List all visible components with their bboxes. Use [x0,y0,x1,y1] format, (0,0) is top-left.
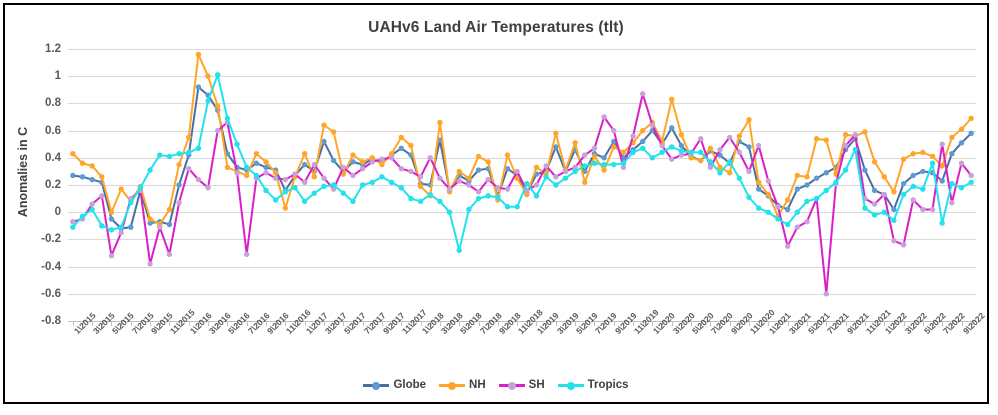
data-point [959,185,964,190]
data-point [331,158,336,163]
x-axis-tick [73,321,74,326]
data-point [389,155,394,160]
legend-label: SH [529,379,545,391]
data-point [457,178,462,183]
data-point [485,177,490,182]
data-point [408,196,413,201]
data-point [157,152,162,157]
data-point [939,142,944,147]
data-point [563,169,568,174]
data-point [804,199,809,204]
data-point [611,162,616,167]
data-point [650,122,655,127]
data-point [205,74,210,79]
data-point [147,167,152,172]
data-point [708,146,713,151]
data-point [466,182,471,187]
data-point [640,91,645,96]
data-point [273,170,278,175]
data-point [804,174,809,179]
data-point [476,167,481,172]
data-point [679,143,684,148]
data-point [254,173,259,178]
data-point [601,155,606,160]
data-point [621,150,626,155]
data-point [553,182,558,187]
data-point [273,176,278,181]
data-point [795,224,800,229]
data-point [833,180,838,185]
data-point [147,216,152,221]
data-point [389,180,394,185]
data-point [843,143,848,148]
data-point [418,184,423,189]
data-point [669,156,674,161]
y-axis-tick-label: 0.8 [45,97,61,109]
data-point [128,200,133,205]
data-point [263,170,268,175]
data-point [370,159,375,164]
data-point [746,117,751,122]
data-point [785,222,790,227]
data-point [698,158,703,163]
data-point [302,151,307,156]
data-point [408,169,413,174]
legend-label: Globe [393,379,426,391]
data-point [968,173,973,178]
data-point [630,133,635,138]
data-point [882,174,887,179]
data-point [891,207,896,212]
data-point [80,174,85,179]
data-point [89,201,94,206]
data-point [399,166,404,171]
data-point [756,186,761,191]
data-point [640,128,645,133]
data-point [843,167,848,172]
data-point [476,189,481,194]
data-point [466,176,471,181]
data-point [824,170,829,175]
legend-item-sh[interactable]: SH [499,379,545,391]
data-point [911,184,916,189]
data-point [331,129,336,134]
y-axis-tick-label: -0.2 [41,233,61,245]
data-point [118,224,123,229]
data-point [321,176,326,181]
data-point [659,150,664,155]
chart-legend: GlobeNHSHTropics [5,379,987,391]
data-point [611,128,616,133]
data-point [766,178,771,183]
data-point [524,181,529,186]
data-point [447,210,452,215]
y-axis-tick-label: 0.4 [45,152,61,164]
data-point [853,147,858,152]
data-point [824,137,829,142]
data-point [350,199,355,204]
data-point [379,162,384,167]
data-point [746,144,751,149]
data-point [89,177,94,182]
data-point [601,167,606,172]
data-point [939,163,944,168]
data-point [968,116,973,121]
series-line [73,54,971,224]
data-point [727,135,732,140]
data-point [360,166,365,171]
data-point [215,128,220,133]
data-point [418,174,423,179]
data-point [814,136,819,141]
data-point [746,169,751,174]
data-point [283,189,288,194]
data-point [176,151,181,156]
data-point [911,173,916,178]
data-point [891,238,896,243]
data-point [853,132,858,137]
x-axis-tick-labels: 1\20153\20155\20157\20159\201511\20151\2… [68,327,976,373]
y-axis-tick-label: -0.4 [41,261,61,273]
data-point [292,185,297,190]
data-point [901,156,906,161]
series-globe [70,84,974,231]
data-point [254,161,259,166]
data-point [698,136,703,141]
data-point [176,182,181,187]
series-layer [68,49,976,321]
data-point [534,182,539,187]
legend-item-tropics[interactable]: Tropics [558,379,629,391]
data-point [89,163,94,168]
chart-container: UAHv6 Land Air Temperatures (tlt) Anomal… [3,3,989,404]
data-point [495,195,500,200]
data-point [882,192,887,197]
data-point [370,180,375,185]
y-axis-tick-label: 0 [55,206,61,218]
data-point [225,165,230,170]
data-point [80,214,85,219]
data-point [505,152,510,157]
series-nh [70,52,974,227]
legend-item-globe[interactable]: Globe [363,379,426,391]
data-point [737,133,742,138]
data-point [708,159,713,164]
data-point [698,150,703,155]
data-point [679,148,684,153]
data-point [553,174,558,179]
data-point [514,204,519,209]
data-point [437,199,442,204]
data-point [215,72,220,77]
data-point [428,155,433,160]
data-point [379,174,384,179]
legend-swatch-icon [439,380,465,390]
data-point [70,224,75,229]
data-point [785,207,790,212]
data-point [186,166,191,171]
data-point [495,185,500,190]
data-point [128,224,133,229]
data-point [312,162,317,167]
data-point [766,192,771,197]
data-point [920,186,925,191]
data-point [804,182,809,187]
data-point [891,189,896,194]
data-point [930,154,935,159]
data-point [669,125,674,130]
data-point [70,173,75,178]
data-point [572,140,577,145]
data-point [592,154,597,159]
y-axis-title: Anomalies in C [16,102,30,242]
data-point [437,176,442,181]
data-point [630,150,635,155]
data-point [321,184,326,189]
chart-title: UAHv6 Land Air Temperatures (tlt) [5,19,987,37]
data-point [254,151,259,156]
data-point [476,196,481,201]
data-point [843,132,848,137]
data-point [901,242,906,247]
data-point [176,162,181,167]
legend-item-nh[interactable]: NH [439,379,486,391]
data-point [196,177,201,182]
data-point [109,253,114,258]
data-point [930,207,935,212]
legend-swatch-icon [558,380,584,390]
data-point [795,210,800,215]
data-point [640,139,645,144]
data-point [920,169,925,174]
data-point [804,219,809,224]
data-point [592,161,597,166]
data-point [795,186,800,191]
data-point [746,195,751,200]
data-point [582,180,587,185]
data-point [930,161,935,166]
data-point [341,165,346,170]
data-point [949,135,954,140]
data-point [775,204,780,209]
data-point [582,152,587,157]
data-point [263,188,268,193]
data-point [601,114,606,119]
data-point [775,216,780,221]
data-point [553,131,558,136]
data-point [273,197,278,202]
data-point [244,173,249,178]
data-point [543,174,548,179]
y-axis-tick-label: -0.8 [41,315,61,327]
legend-swatch-icon [363,380,389,390]
data-point [785,244,790,249]
data-point [244,252,249,257]
data-point [167,252,172,257]
data-point [756,180,761,185]
data-point [379,156,384,161]
data-point [109,210,114,215]
data-point [862,205,867,210]
data-point [302,199,307,204]
data-point [968,131,973,136]
data-point [534,165,539,170]
data-point [920,207,925,212]
data-point [360,182,365,187]
data-point [457,248,462,253]
data-point [147,261,152,266]
data-point [167,222,172,227]
data-point [244,165,249,170]
legend-label: NH [469,379,486,391]
data-point [99,193,104,198]
data-point [911,151,916,156]
data-point [572,169,577,174]
data-point [485,159,490,164]
data-point [350,173,355,178]
data-point [785,197,790,202]
data-point [196,52,201,57]
data-point [302,162,307,167]
data-point [543,163,548,168]
data-point [80,161,85,166]
plot-area: 1.210.80.60.40.20-0.2-0.4-0.6-0.8 [68,49,976,321]
data-point [302,180,307,185]
data-point [882,210,887,215]
data-point [99,174,104,179]
data-point [727,159,732,164]
data-point [872,212,877,217]
data-point [862,167,867,172]
data-point [215,103,220,108]
data-point [457,169,462,174]
data-point [70,151,75,156]
data-point [321,122,326,127]
data-point [234,170,239,175]
data-point [939,178,944,183]
data-point [399,135,404,140]
data-point [418,199,423,204]
data-point [99,223,104,228]
data-point [312,174,317,179]
y-axis-tick-label: -0.6 [41,288,61,300]
legend-swatch-icon [499,380,525,390]
data-point [399,185,404,190]
data-point [872,188,877,193]
data-point [939,220,944,225]
data-point [408,143,413,148]
data-point [872,201,877,206]
data-point [563,176,568,181]
data-point [360,159,365,164]
data-point [862,129,867,134]
data-point [582,163,587,168]
data-point [949,181,954,186]
data-point [669,144,674,149]
data-point [872,159,877,164]
data-point [341,190,346,195]
y-axis-tick-label: 0.2 [45,179,61,191]
data-point [234,142,239,147]
data-point [621,161,626,166]
data-point [292,171,297,176]
data-point [283,205,288,210]
data-point [766,210,771,215]
data-point [592,146,597,151]
data-point [659,143,664,148]
data-point [737,176,742,181]
data-point [205,98,210,103]
data-point [514,169,519,174]
legend-label: Tropics [588,379,629,391]
data-point [157,224,162,229]
data-point [350,152,355,157]
data-point [399,146,404,151]
data-point [814,196,819,201]
data-point [650,155,655,160]
data-point [968,180,973,185]
data-point [824,188,829,193]
data-point [109,216,114,221]
data-point [814,176,819,181]
data-point [959,161,964,166]
data-point [505,186,510,191]
data-point [167,154,172,159]
data-point [911,197,916,202]
data-point [312,190,317,195]
data-point [196,84,201,89]
data-point [920,150,925,155]
data-point [476,154,481,159]
y-axis-tick-label: 1.2 [45,43,61,55]
data-point [167,207,172,212]
data-point [138,185,143,190]
data-point [640,146,645,151]
data-point [949,151,954,156]
data-point [205,185,210,190]
data-point [428,192,433,197]
data-point [109,227,114,232]
data-point [795,173,800,178]
data-point [949,200,954,205]
data-point [534,193,539,198]
data-point [717,147,722,152]
y-axis-tick-label: 1 [55,70,61,82]
data-point [727,170,732,175]
data-point [901,192,906,197]
data-point [891,218,896,223]
data-point [186,150,191,155]
data-point [959,140,964,145]
data-point [611,144,616,149]
data-point [437,120,442,125]
data-point [196,146,201,151]
data-point [669,97,674,102]
data-point [601,162,606,167]
data-point [331,182,336,187]
data-point [901,181,906,186]
data-point [688,150,693,155]
data-point [824,291,829,296]
data-point [176,200,181,205]
y-axis-tick-label: 0.6 [45,125,61,137]
data-point [447,186,452,191]
data-point [756,143,761,148]
data-point [505,204,510,209]
data-point [263,159,268,164]
data-point [89,207,94,212]
data-point [466,207,471,212]
